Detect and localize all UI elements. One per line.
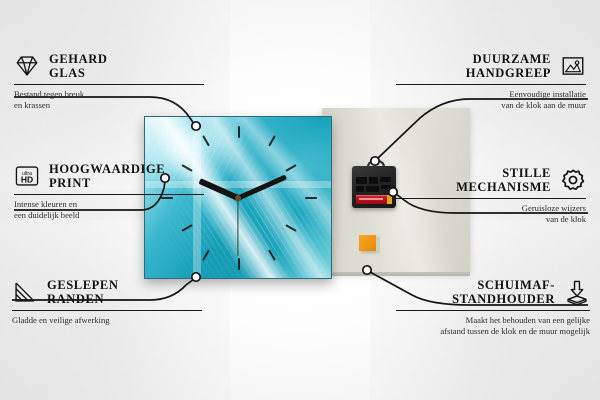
- feature-header: DUURZAME HANDGREEP: [396, 52, 586, 80]
- feature-geslepen-randen: GESLEPEN RANDEN Gladde en veilige afwerk…: [12, 278, 202, 326]
- divider: [396, 310, 590, 311]
- feature-stille-mechanisme: STILLE MECHANISME Geruisloze wijzers van…: [396, 166, 586, 224]
- feature-header: SCHUIMAF- STANDHOUDER: [396, 278, 590, 306]
- feature-title: SCHUIMAF- STANDHOUDER: [452, 278, 555, 306]
- spacer-side: [376, 237, 380, 253]
- feature-title: GESLEPEN RANDEN: [47, 278, 119, 306]
- clock-mechanism: [352, 160, 396, 208]
- divider: [396, 84, 586, 85]
- diamond-icon: [14, 53, 40, 79]
- clock-center-pin: [235, 195, 241, 201]
- feature-header: ultra HD HOOGWAARDIGE PRINT: [14, 162, 204, 190]
- divider: [14, 84, 204, 85]
- infographic-canvas: GEHARD GLAS Bestand tegen breuk en krass…: [0, 0, 600, 400]
- gear-icon: [560, 167, 586, 193]
- feature-description: Maakt het behouden van een gelijke afsta…: [396, 315, 590, 336]
- battery: [356, 195, 392, 204]
- svg-text:HD: HD: [21, 175, 33, 185]
- mechanism-vents: [356, 177, 392, 193]
- divider: [12, 310, 202, 311]
- foam-spacer-pad: [359, 235, 376, 251]
- battery-positive-cap: [387, 195, 392, 204]
- feature-title: STILLE MECHANISME: [456, 166, 551, 194]
- feature-title: GEHARD GLAS: [49, 52, 107, 80]
- spacer-arrow-icon: [564, 279, 590, 305]
- feature-header: STILLE MECHANISME: [396, 166, 586, 194]
- divider: [396, 198, 586, 199]
- mechanism-housing: [352, 166, 396, 208]
- ultra-hd-icon: ultra HD: [14, 163, 40, 189]
- feature-hoogwaardige-print: ultra HD HOOGWAARDIGE PRINT Intense kleu…: [14, 162, 204, 220]
- feature-header: GEHARD GLAS: [14, 52, 204, 80]
- feature-title: DUURZAME HANDGREEP: [466, 52, 551, 80]
- feature-schuimafstandhouder: SCHUIMAF- STANDHOUDER Maakt het behouden…: [396, 278, 590, 336]
- feature-duurzame-handgreep: DUURZAME HANDGREEP Eenvoudige installati…: [396, 52, 586, 110]
- feature-description: Geruisloze wijzers van de klok: [396, 203, 586, 224]
- feature-description: Bestand tegen breuk en krassen: [14, 89, 204, 110]
- bevelled-edge-icon: [12, 279, 38, 305]
- divider: [14, 194, 204, 195]
- feature-description: Gladde en veilige afwerking: [12, 315, 202, 326]
- feature-title: HOOGWAARDIGE PRINT: [49, 162, 165, 190]
- feature-gehard-glas: GEHARD GLAS Bestand tegen breuk en krass…: [14, 52, 204, 110]
- back-panel-edge: [322, 272, 470, 276]
- feature-description: Eenvoudige installatie van de klok aan d…: [396, 89, 586, 110]
- feature-header: GESLEPEN RANDEN: [12, 278, 202, 306]
- feature-description: Intense kleuren en een duidelijk beeld: [14, 199, 204, 220]
- battery-label: [359, 198, 383, 200]
- picture-frame-icon: [560, 53, 586, 79]
